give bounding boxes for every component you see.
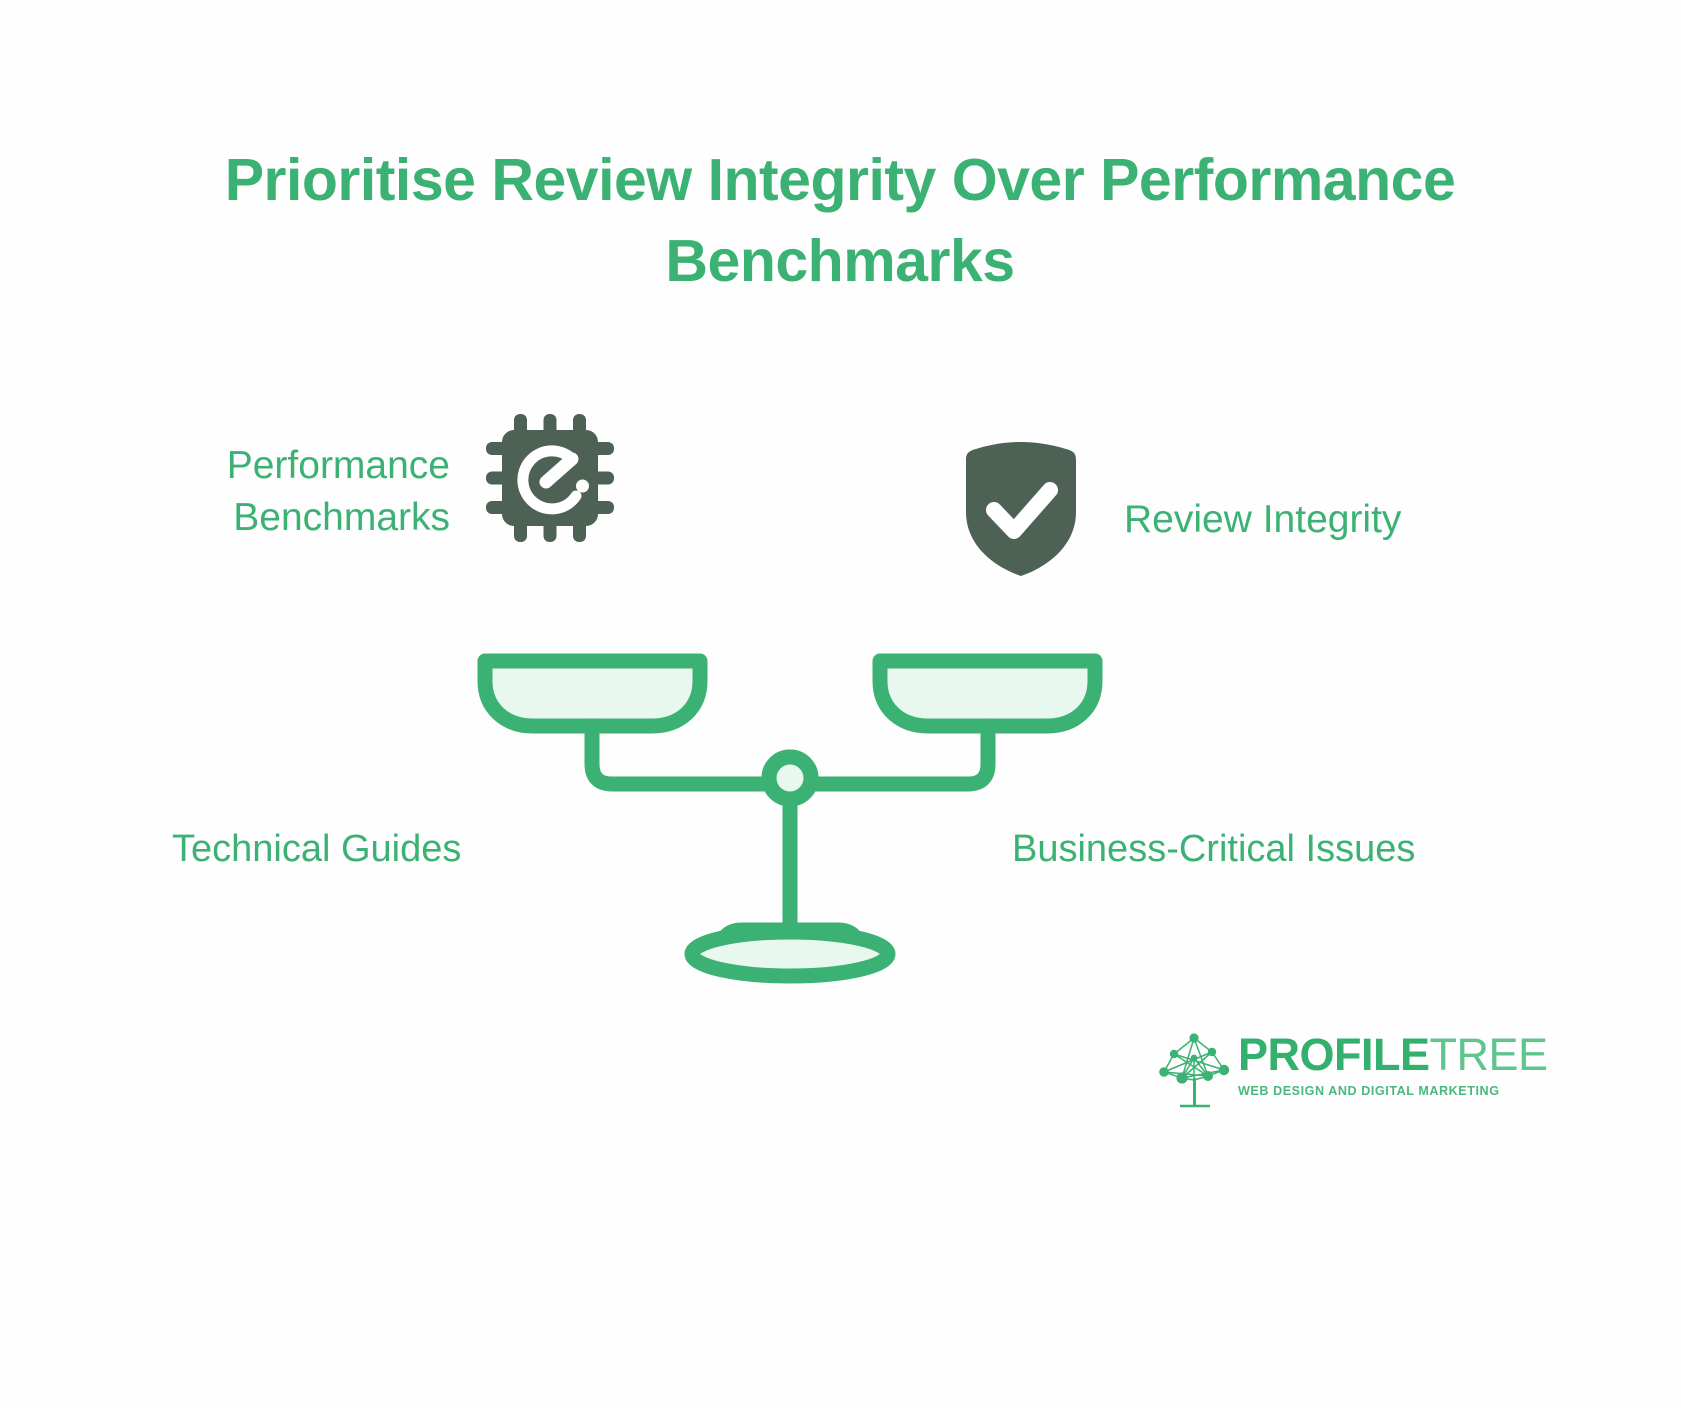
cpu-chip-speed-icon	[484, 412, 616, 544]
profiletree-wordmark: PROFILETREE WEB DESIGN AND DIGITAL MARKE…	[1238, 1032, 1528, 1098]
technical-guides-label: Technical Guides	[172, 828, 461, 871]
shield-check-icon	[962, 440, 1080, 578]
infographic-canvas: Prioritise Review Integrity Over Perform…	[0, 0, 1681, 1408]
page-title: Prioritise Review Integrity Over Perform…	[90, 140, 1590, 303]
performance-benchmarks-label-line2: Benchmarks	[150, 492, 450, 544]
logo-word-tree: TREE	[1430, 1029, 1548, 1080]
performance-benchmarks-label: Performance Benchmarks	[150, 440, 450, 544]
review-integrity-label: Review Integrity	[1124, 494, 1401, 546]
logo-word-row: PROFILETREE	[1238, 1032, 1528, 1077]
logo-tagline: WEB DESIGN AND DIGITAL MARKETING	[1238, 1084, 1528, 1098]
balance-scale-icon	[430, 596, 1150, 986]
profiletree-logo[interactable]: PROFILETREE WEB DESIGN AND DIGITAL MARKE…	[1152, 1028, 1524, 1116]
profiletree-network-tree-icon	[1152, 1028, 1236, 1112]
logo-word-profile: PROFILE	[1238, 1029, 1430, 1080]
business-critical-issues-label: Business-Critical Issues	[1012, 828, 1415, 871]
performance-benchmarks-label-line1: Performance	[150, 440, 450, 492]
